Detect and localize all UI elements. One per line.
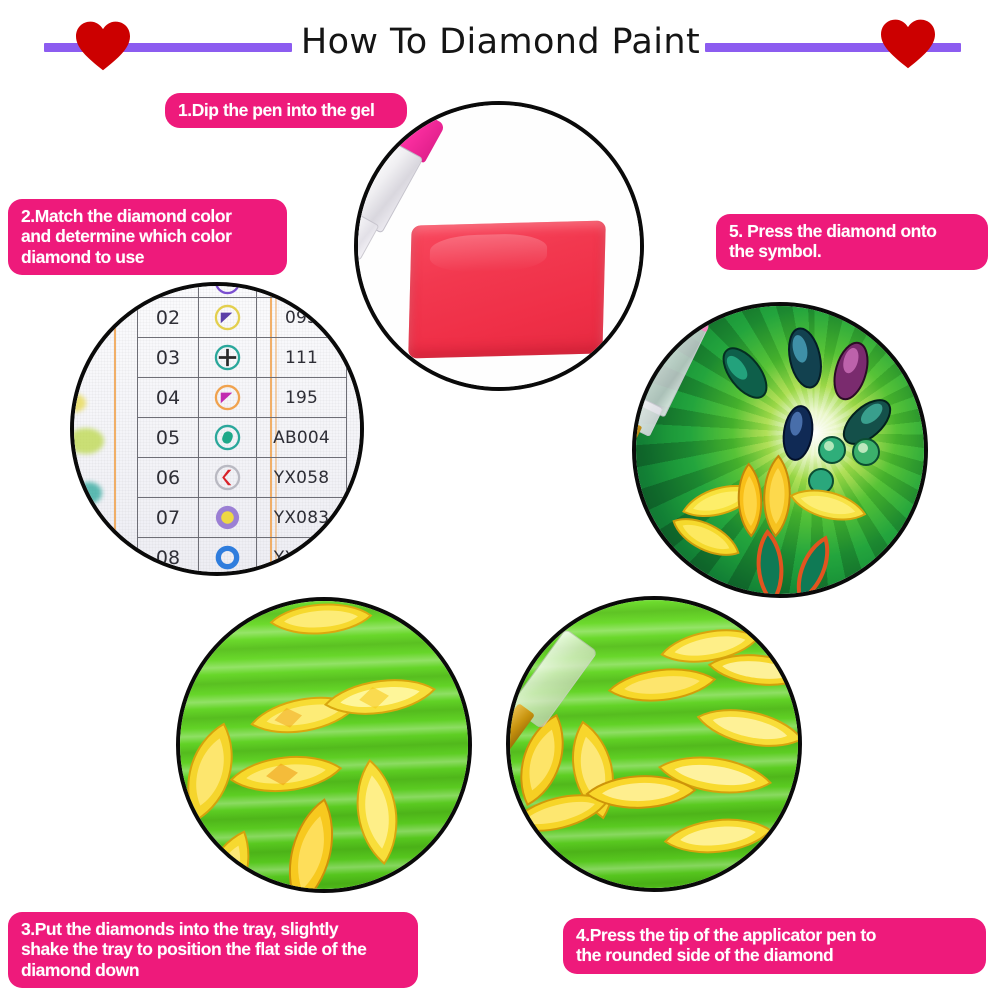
chart-cell-number: 07: [137, 498, 199, 537]
rhinestone: [818, 436, 846, 464]
chart-cell-symbol: [199, 538, 257, 576]
chart-cell-number: 06: [137, 458, 199, 497]
chart-cell-code: 195: [257, 378, 347, 417]
page-title: How To Diamond Paint: [0, 16, 1001, 68]
chart-cell-code: 028: [257, 282, 347, 297]
capsule-icon: [214, 424, 241, 451]
table-row: 028: [137, 282, 347, 298]
chart-cell-code: AB004: [257, 418, 347, 457]
chart-cell-symbol: [199, 298, 257, 337]
step-3-text: 3.Put the diamonds into the tray, slight…: [21, 919, 405, 980]
step-5-text: 5. Press the diamond onto the symbol.: [729, 221, 975, 262]
chart-cell-symbol: [199, 458, 257, 497]
rhinestone: [852, 438, 880, 466]
table-row: 04195: [137, 378, 347, 418]
chart-cell-number: 08: [137, 538, 199, 576]
color-chart: 02802093031110419505AB00406YX05807YX0830…: [137, 282, 347, 576]
step-4-text: 4.Press the tip of the applicator pen to…: [576, 925, 973, 966]
step-3-label: 3.Put the diamonds into the tray, slight…: [8, 912, 418, 988]
chart-cell-code: 111: [257, 338, 347, 377]
step-2-text: 2.Match the diamond color and determine …: [21, 206, 274, 267]
chart-cell-symbol: [199, 378, 257, 417]
chart-cell-code: 093: [257, 298, 347, 337]
table-row: 05AB004: [137, 418, 347, 458]
chart-cell-number: 02: [137, 298, 199, 337]
gel-pad: [408, 220, 606, 358]
photo-color-chart-table: 02802093031110419505AB00406YX05807YX0830…: [70, 282, 364, 576]
chart-cell-code: YX083: [257, 498, 347, 537]
header: How To Diamond Paint: [0, 0, 1001, 92]
plus-icon: [214, 344, 241, 371]
triangle-icon: [214, 384, 241, 411]
chart-cell-number: [137, 282, 199, 297]
photo-placing-diamond-on-canvas: [632, 302, 928, 598]
table-row: 03111: [137, 338, 347, 378]
chart-cell-code: YX058: [257, 458, 347, 497]
table-row: 08YX106: [137, 538, 347, 576]
photo-pen-dipping-gel: [354, 101, 644, 391]
photo-diamonds-in-tray: [176, 597, 472, 893]
yellow-diamond-target: [583, 766, 699, 818]
ring-icon: [214, 544, 241, 571]
pen-tip: [354, 242, 357, 283]
yellow-diamond-on-tip: [727, 461, 774, 538]
infographic-canvas: How To Diamond Paint 1.Dip the pen into …: [0, 0, 1001, 1001]
table-row: 06YX058: [137, 458, 347, 498]
chart-cell-symbol: [199, 498, 257, 537]
pen-tip: [506, 703, 535, 768]
chart-cell-number: 05: [137, 418, 199, 457]
filled-dot-icon: [214, 504, 241, 531]
step-2-label: 2.Match the diamond color and determine …: [8, 199, 287, 275]
chart-cell-number: 03: [137, 338, 199, 377]
chart-cell-symbol: [199, 338, 257, 377]
double-dot-circle-icon: [214, 282, 241, 288]
chevron-left-icon: [214, 464, 241, 491]
table-row: 07YX083: [137, 498, 347, 538]
chart-cell-symbol: [199, 282, 257, 297]
pen-tip: [632, 419, 642, 473]
triangle-icon: [214, 304, 241, 331]
chart-cell-symbol: [199, 418, 257, 457]
chart-cell-number: 04: [137, 378, 199, 417]
step-4-label: 4.Press the tip of the applicator pen to…: [563, 918, 986, 974]
photo-pen-picking-diamond: [506, 596, 802, 892]
table-row: 02093: [137, 298, 347, 338]
step-5-label: 5. Press the diamond onto the symbol.: [716, 214, 988, 270]
chart-cell-code: YX106: [257, 538, 347, 576]
yellow-diamond: [267, 597, 376, 645]
